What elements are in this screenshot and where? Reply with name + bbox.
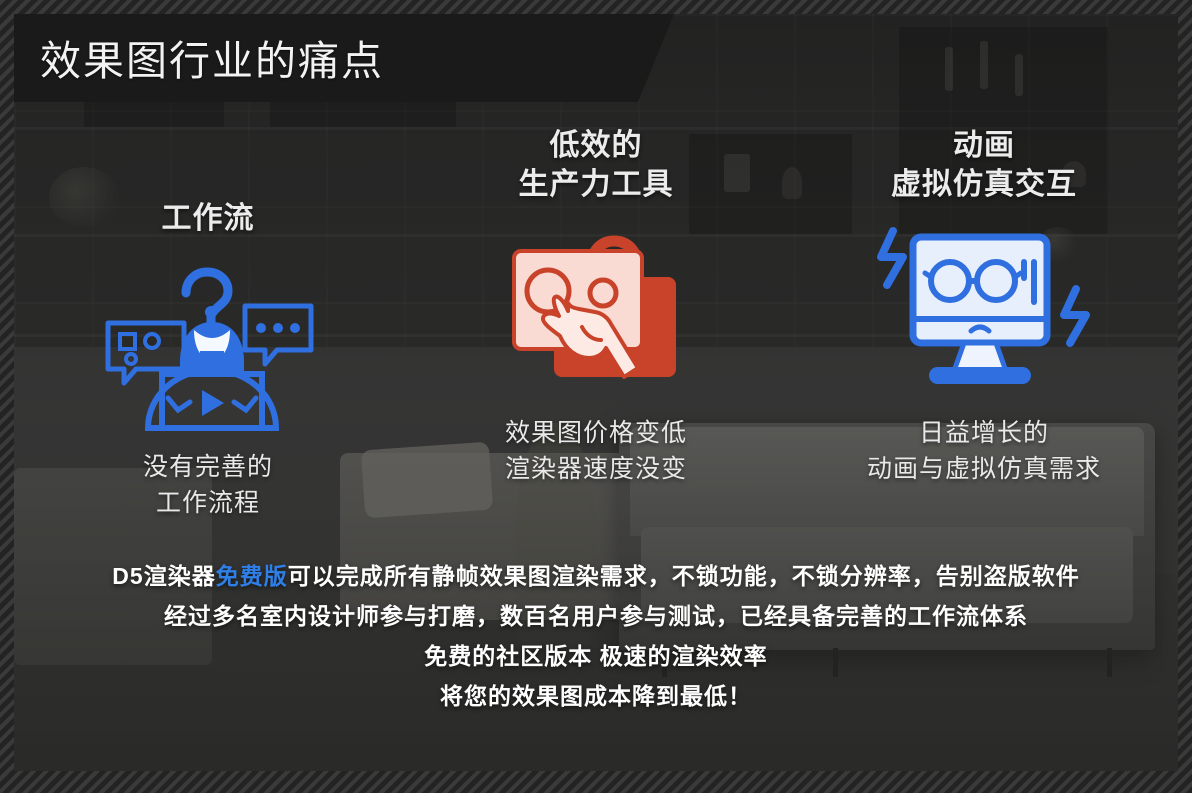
footer-line1-highlight: 免费版 xyxy=(216,563,288,589)
footer-line1-part2: 可以完成所有静帧效果图渲染需求，不锁功能，不锁分辨率，告别盗版软件 xyxy=(288,563,1080,589)
caption-line: 日益增长的 xyxy=(867,416,1101,452)
column-animation: 动画 虚拟仿真交互 xyxy=(790,120,1178,487)
column-caption: 效果图价格变低 渲染器速度没变 xyxy=(505,416,687,487)
caption-line: 动画与虚拟仿真需求 xyxy=(867,452,1101,488)
footer-line-2: 经过多名室内设计师参与打磨，数百名用户参与测试，已经具备完善的工作流体系 xyxy=(14,596,1178,636)
column-workflow: 工作流 xyxy=(14,120,402,521)
header-banner: 效果图行业的痛点 xyxy=(14,14,674,102)
heading-line: 工作流 xyxy=(162,200,255,238)
column-heading: 工作流 xyxy=(162,120,255,238)
footer-line-3: 免费的社区版本 极速的渲染效率 xyxy=(14,636,1178,676)
column-productivity: 低效的 生产力工具 效果图价格变低 xyxy=(402,120,790,487)
caption-line: 效果图价格变低 xyxy=(505,416,687,452)
caption-line: 没有完善的 xyxy=(143,450,273,486)
footer-copy: D5渲染器免费版可以完成所有静帧效果图渲染需求，不锁功能，不锁分辨率，告别盗版软… xyxy=(14,556,1178,716)
column-heading: 低效的 生产力工具 xyxy=(519,120,674,204)
footer-line-1: D5渲染器免费版可以完成所有静帧效果图渲染需求，不锁功能，不锁分辨率，告别盗版软… xyxy=(14,556,1178,596)
pain-point-columns: 工作流 xyxy=(14,120,1178,540)
heading-line: 虚拟仿真交互 xyxy=(891,166,1077,204)
caption-line: 渲染器速度没变 xyxy=(505,452,687,488)
caption-line: 工作流程 xyxy=(143,486,273,522)
monitor-vr-glasses-icon xyxy=(871,210,1097,400)
column-caption: 没有完善的 工作流程 xyxy=(143,450,273,521)
column-heading: 动画 虚拟仿真交互 xyxy=(891,120,1077,204)
slide-root: 效果图行业的痛点 工作流 xyxy=(0,0,1192,793)
person-laptop-question-icon xyxy=(90,244,326,434)
column-caption: 日益增长的 动画与虚拟仿真需求 xyxy=(867,416,1101,487)
footer-line1-part1: D5渲染器 xyxy=(112,563,215,589)
heading-line: 动画 xyxy=(891,127,1077,165)
page-title: 效果图行业的痛点 xyxy=(40,27,384,87)
hand-tablet-question-icon xyxy=(496,210,696,400)
heading-line: 生产力工具 xyxy=(519,166,674,204)
footer-line-4: 将您的效果图成本降到最低！ xyxy=(14,676,1178,716)
heading-line: 低效的 xyxy=(519,127,674,165)
